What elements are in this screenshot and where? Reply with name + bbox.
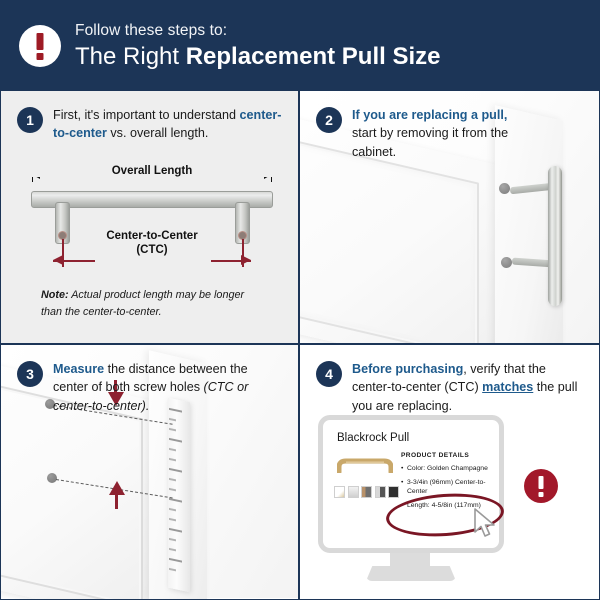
product-title: Blackrock Pull bbox=[337, 432, 409, 444]
product-details-heading: PRODUCT DETAILS bbox=[401, 452, 501, 459]
step-3-number: 3 bbox=[17, 361, 43, 387]
product-detail-color: Color: Golden Champagne bbox=[401, 464, 501, 474]
monitor-illustration: Blackrock Pull bbox=[318, 415, 588, 595]
product-swatch-row[interactable] bbox=[334, 486, 399, 498]
step-1-text-a: First, it's important to understand bbox=[53, 108, 240, 122]
swatch-2[interactable] bbox=[348, 486, 359, 498]
ctc-arrow-right bbox=[241, 255, 251, 265]
step-1-text-c: vs. overall length. bbox=[107, 126, 209, 140]
page-title-bold: Replacement Pull Size bbox=[186, 43, 441, 70]
cursor-arrow-icon bbox=[473, 508, 499, 538]
measure-arrow-up bbox=[109, 481, 125, 495]
step-4-text: Before purchasing, verify that the cente… bbox=[352, 360, 582, 415]
page-title-light: The Right bbox=[75, 43, 186, 70]
step-1-text: First, it's important to understand cent… bbox=[53, 106, 283, 143]
step-2-number: 2 bbox=[316, 107, 342, 133]
note-body: Actual product length may be longer than… bbox=[41, 289, 244, 318]
swatch-5[interactable] bbox=[388, 486, 399, 498]
matches-link[interactable]: matches bbox=[482, 380, 533, 394]
exclamation-icon bbox=[524, 469, 558, 503]
step-2-text: If you are replacing a pull, start by re… bbox=[352, 106, 512, 161]
step-panel-4: 4 Before purchasing, verify that the cen… bbox=[300, 345, 599, 599]
monitor-neck bbox=[390, 553, 430, 567]
ctc-arrow-left bbox=[53, 255, 63, 265]
step-panel-1: 1 First, it's important to understand ce… bbox=[1, 91, 300, 345]
steps-grid: 1 First, it's important to understand ce… bbox=[1, 91, 599, 599]
header-banner: Follow these steps to: The Right Replace… bbox=[1, 1, 599, 91]
header-text-block: Follow these steps to: The Right Replace… bbox=[75, 22, 440, 70]
header-eyebrow: Follow these steps to: bbox=[75, 22, 440, 39]
measure-arrow-up-stem bbox=[115, 495, 118, 509]
monitor-base bbox=[366, 566, 456, 581]
step-3-text: Measure the distance between the center … bbox=[53, 360, 283, 415]
page-title: The Right Replacement Pull Size bbox=[75, 44, 440, 70]
step-1-header: 1 First, it's important to understand ce… bbox=[17, 106, 288, 143]
step-1-number: 1 bbox=[17, 107, 43, 133]
step-4-number: 4 bbox=[316, 361, 342, 387]
swatch-3[interactable] bbox=[361, 486, 372, 498]
step-panel-2: 2 If you are replacing a pull, start by … bbox=[300, 91, 599, 345]
infographic-root: Follow these steps to: The Right Replace… bbox=[0, 0, 600, 600]
exclamation-icon bbox=[19, 25, 61, 67]
overall-length-label: Overall Length bbox=[23, 165, 281, 177]
ruler bbox=[168, 398, 190, 593]
step-panel-3: 3 Measure the distance between the cente… bbox=[1, 345, 300, 599]
step-4-header: 4 Before purchasing, verify that the cen… bbox=[316, 360, 589, 415]
step-2-text-a: If you are replacing a pull, bbox=[352, 108, 507, 122]
monitor-screen: Blackrock Pull bbox=[318, 415, 504, 553]
cabinet-pull-2 bbox=[548, 166, 562, 306]
product-image bbox=[335, 452, 397, 482]
ctc-label-line2: (CTC) bbox=[63, 243, 241, 257]
screw-hole-upper-2 bbox=[499, 183, 510, 194]
step-1-note: Note: Actual product length may be longe… bbox=[41, 287, 256, 322]
pull-measurement-diagram: Overall Length Center-to-Center bbox=[23, 169, 281, 274]
step-3-text-a: Measure bbox=[53, 362, 104, 376]
step-4-text-a: Before purchasing bbox=[352, 362, 463, 376]
step-3-header: 3 Measure the distance between the cente… bbox=[17, 360, 288, 415]
step-2-header: 2 If you are replacing a pull, start by … bbox=[316, 106, 589, 161]
swatch-4[interactable] bbox=[375, 486, 386, 498]
swatch-1[interactable] bbox=[334, 486, 345, 498]
ctc-label: Center-to-Center (CTC) bbox=[63, 229, 241, 258]
note-label: Note: bbox=[41, 289, 69, 301]
screw-hole-lower-2 bbox=[501, 257, 512, 268]
gold-pull-icon bbox=[337, 458, 393, 473]
ctc-label-line1: Center-to-Center bbox=[63, 229, 241, 243]
step-2-text-b: start by removing it from the cabinet. bbox=[352, 126, 508, 158]
